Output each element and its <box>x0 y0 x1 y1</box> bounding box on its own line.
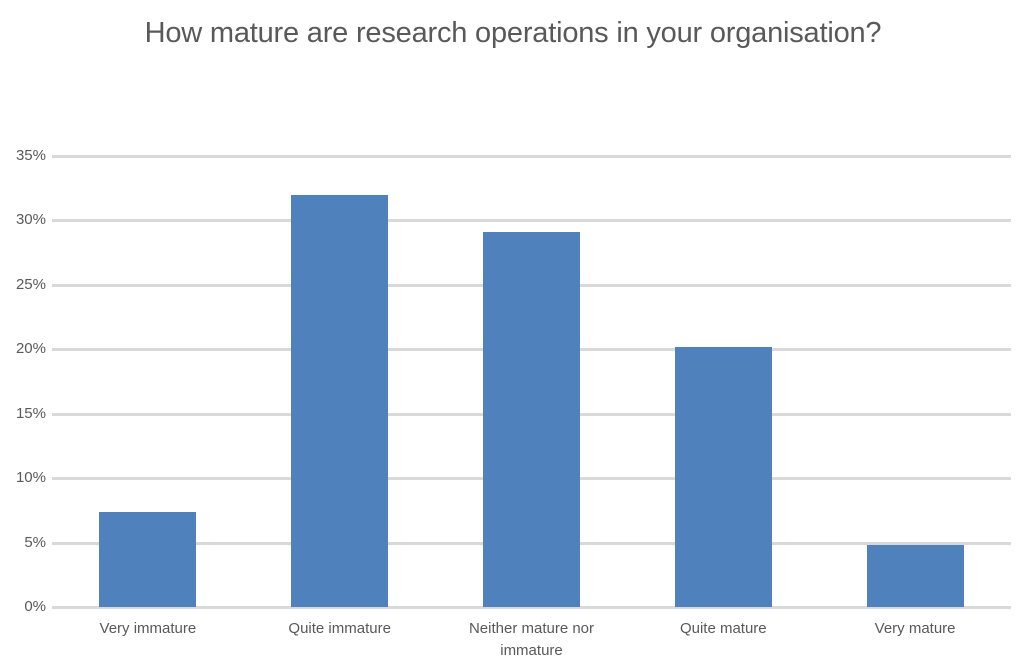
bar[interactable] <box>291 195 388 607</box>
y-axis-tick-label: 35% <box>2 148 46 163</box>
x-axis-tick-label: Neither mature nor immature <box>442 618 622 662</box>
y-axis-tick-label: 15% <box>2 406 46 421</box>
bar[interactable] <box>867 545 964 607</box>
y-axis-tick-label: 0% <box>2 599 46 614</box>
y-axis-tick-label: 25% <box>2 277 46 292</box>
x-axis-tick-label: Very immature <box>58 618 238 640</box>
x-axis-tick-label: Quite immature <box>250 618 430 640</box>
y-axis-tick-label: 20% <box>2 341 46 356</box>
x-axis-tick-labels: Very immatureQuite immatureNeither matur… <box>52 612 1011 672</box>
bar[interactable] <box>99 512 196 607</box>
bar-chart: How mature are research operations in yo… <box>0 0 1026 672</box>
bars-group <box>52 156 1011 607</box>
bar[interactable] <box>483 232 580 607</box>
chart-title: How mature are research operations in yo… <box>113 14 913 53</box>
y-axis-tick-label: 30% <box>2 212 46 227</box>
x-axis-tick-label: Very mature <box>825 618 1005 640</box>
y-axis-tick-label: 5% <box>2 535 46 550</box>
bar[interactable] <box>675 347 772 607</box>
x-axis-tick-label: Quite mature <box>633 618 813 640</box>
y-axis-tick-label: 10% <box>2 470 46 485</box>
y-axis-tick-labels: 0%5%10%15%20%25%30%35% <box>0 156 46 607</box>
